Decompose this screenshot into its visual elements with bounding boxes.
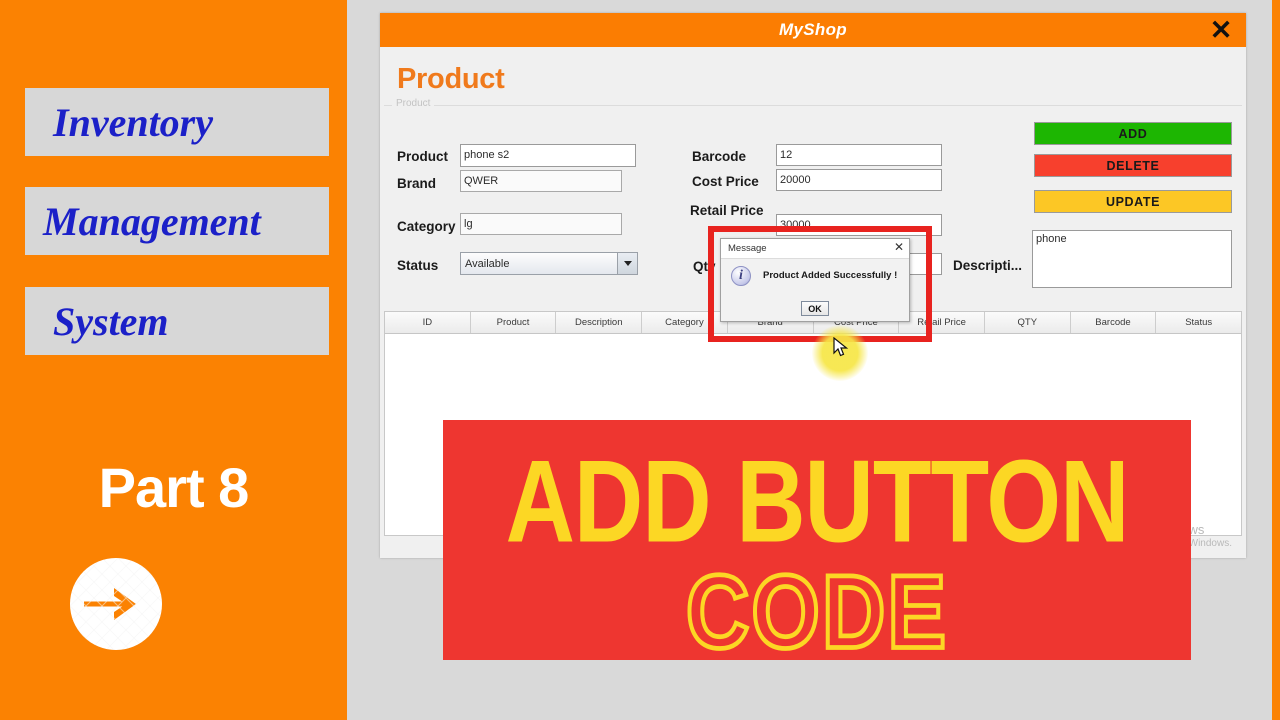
banner-line-1: ADD BUTTON bbox=[443, 444, 1191, 561]
intro-sidebar: Inventory Management System Part 8 bbox=[0, 0, 347, 720]
table-column-header[interactable]: Description bbox=[556, 312, 642, 333]
arrow-right-circle-icon bbox=[70, 558, 162, 650]
description-textarea[interactable]: phone bbox=[1032, 230, 1232, 288]
right-edge-stripe bbox=[1272, 0, 1280, 720]
dialog-body: i Product Added Successfully ! bbox=[721, 259, 909, 299]
add-button[interactable]: ADD bbox=[1034, 122, 1232, 145]
label-product: Product bbox=[397, 149, 448, 164]
message-dialog: Message ✕ i Product Added Successfully !… bbox=[720, 238, 910, 322]
dialog-message: Product Added Successfully ! bbox=[763, 270, 897, 281]
barcode-input[interactable]: 12 bbox=[776, 144, 942, 166]
part-number-label: Part 8 bbox=[0, 455, 347, 520]
info-icon: i bbox=[731, 266, 751, 286]
label-brand: Brand bbox=[397, 176, 436, 191]
table-column-header[interactable]: Status bbox=[1156, 312, 1241, 333]
banner-line-2: CODE bbox=[443, 560, 1191, 660]
update-button[interactable]: UPDATE bbox=[1034, 190, 1232, 213]
label-description: Descripti... bbox=[953, 258, 1022, 273]
title-text-management: Management bbox=[25, 198, 261, 245]
title-text-inventory: Inventory bbox=[25, 99, 213, 146]
status-select-value: Available bbox=[465, 258, 509, 270]
title-box-system: System bbox=[25, 287, 329, 355]
title-text-system: System bbox=[25, 298, 169, 345]
table-column-header[interactable]: Barcode bbox=[1071, 312, 1157, 333]
page-title: Product bbox=[397, 63, 504, 96]
chevron-down-icon[interactable] bbox=[617, 253, 637, 274]
table-column-header[interactable]: Product bbox=[471, 312, 557, 333]
brand-input[interactable]: QWER bbox=[460, 170, 622, 192]
ok-button[interactable]: OK bbox=[801, 301, 829, 316]
window-titlebar: MyShop ✕ bbox=[380, 13, 1246, 47]
status-select[interactable]: Available bbox=[460, 252, 638, 275]
table-column-header[interactable]: ID bbox=[385, 312, 471, 333]
product-input[interactable]: phone s2 bbox=[460, 144, 636, 167]
dialog-titlebar: Message ✕ bbox=[721, 239, 909, 259]
title-box-management: Management bbox=[25, 187, 329, 255]
video-title-banner: ADD BUTTON CODE bbox=[443, 420, 1191, 660]
group-box-label: Product bbox=[392, 98, 434, 109]
category-input[interactable]: lg bbox=[460, 213, 622, 235]
label-retail-price: Retail Price bbox=[690, 203, 764, 218]
table-column-header[interactable]: QTY bbox=[985, 312, 1071, 333]
title-box-inventory: Inventory bbox=[25, 88, 329, 156]
label-cost-price: Cost Price bbox=[692, 174, 759, 189]
delete-button[interactable]: DELETE bbox=[1034, 154, 1232, 177]
close-icon[interactable]: ✕ bbox=[1204, 15, 1238, 45]
label-status: Status bbox=[397, 258, 438, 273]
label-barcode: Barcode bbox=[692, 149, 746, 164]
dialog-title: Message bbox=[721, 243, 767, 254]
close-icon[interactable]: ✕ bbox=[894, 241, 904, 253]
cost-price-input[interactable]: 20000 bbox=[776, 169, 942, 191]
label-category: Category bbox=[397, 219, 456, 234]
window-title: MyShop bbox=[779, 20, 847, 40]
